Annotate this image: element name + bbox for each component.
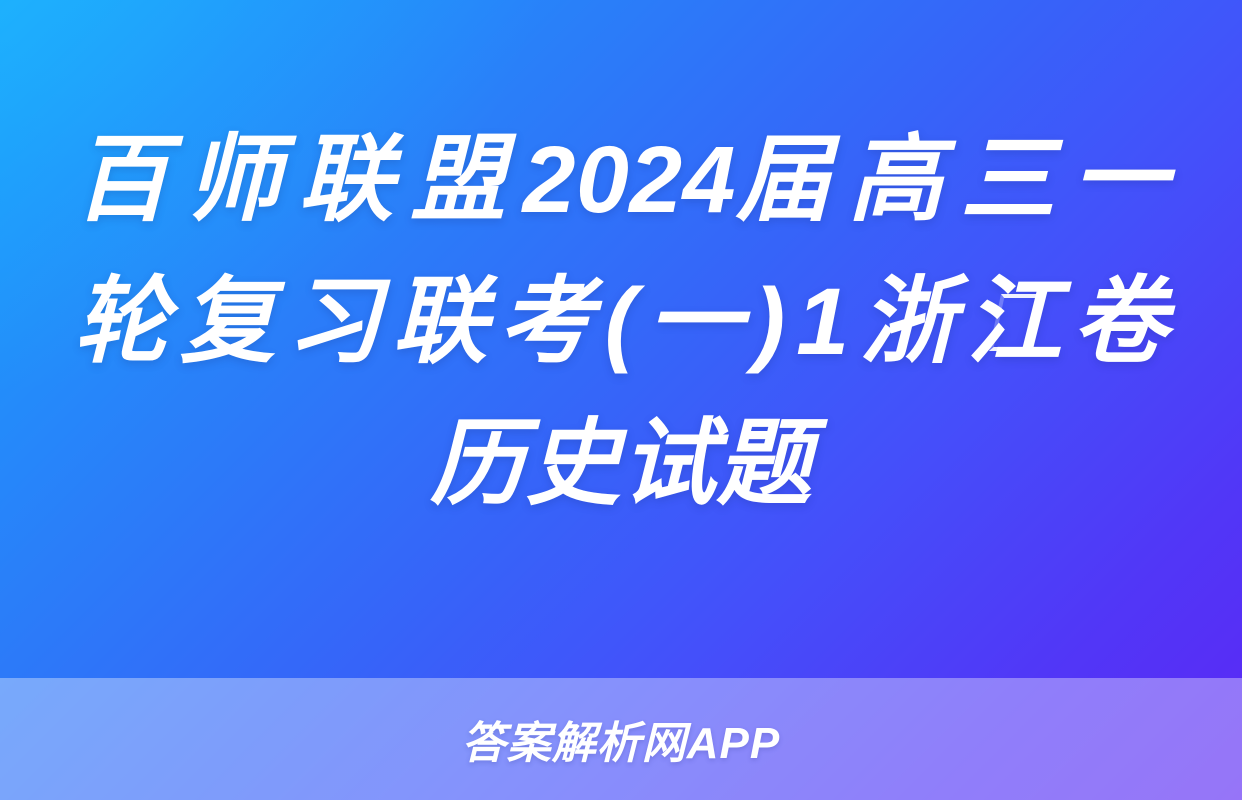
title-glyph: 复 (180, 251, 276, 393)
title-paren-close: ) (754, 251, 786, 393)
title-number-run: 1 (796, 251, 849, 393)
title-year-run: 2024届 (523, 109, 832, 251)
title-glyph: 百 (74, 109, 170, 251)
title-line-1: 百 师 联 盟 2024届 高 三 一 (74, 109, 1168, 251)
title-glyph: 高 (848, 109, 944, 251)
title-glyph-jiang: 江 (966, 251, 1062, 393)
title-glyph: 一 (1072, 109, 1168, 251)
title-line-3: 历史试题 (74, 393, 1168, 535)
title-glyph: 盟 (410, 109, 506, 251)
title-glyph: 三 (960, 109, 1056, 251)
title-block: 百 师 联 盟 2024届 高 三 一 轮 复 习 联 考 ( 一 ) 1 浙 … (0, 0, 1242, 678)
title-glyph: 习 (286, 251, 382, 393)
title-glyph: 联 (392, 251, 488, 393)
footer-watermark-band: 答案解析网APP (0, 678, 1242, 800)
title-glyph: 联 (298, 109, 394, 251)
title-glyph: 轮 (74, 251, 170, 393)
title-glyph: 考 (499, 251, 595, 393)
title-glyph: 一 (647, 251, 743, 393)
title-line-2: 轮 复 习 联 考 ( 一 ) 1 浙 江 卷 (74, 251, 1168, 393)
title-glyph-jiang-text: 江 (966, 269, 1062, 375)
footer-watermark-text: 答案解析网APP (462, 707, 780, 771)
poster-canvas: 百 师 联 盟 2024届 高 三 一 轮 复 习 联 考 ( 一 ) 1 浙 … (0, 0, 1242, 800)
title-glyph: 卷 (1072, 251, 1168, 393)
title-glyph: 师 (186, 109, 282, 251)
title-glyph: 浙 (860, 251, 956, 393)
title-paren-open: ( (605, 251, 637, 393)
